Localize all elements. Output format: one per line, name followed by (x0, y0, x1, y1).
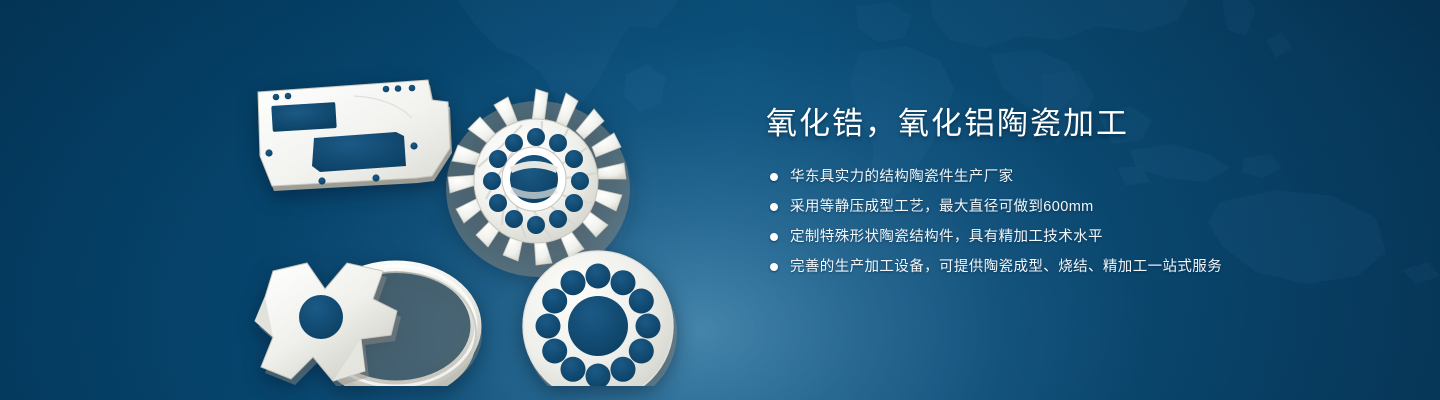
bullet-dot-icon (770, 233, 778, 241)
list-item: 华东具实力的结构陶瓷件生产厂家 (770, 166, 1326, 188)
page-title: 氧化锆，氧化铝陶瓷加工 (766, 104, 1326, 144)
hero-banner: 氧化锆，氧化铝陶瓷加工 华东具实力的结构陶瓷件生产厂家 采用等静压成型工艺，最大… (0, 0, 1440, 400)
bullet-dot-icon (770, 173, 778, 181)
ceramic-mounting-plate (258, 80, 452, 191)
list-item: 采用等静压成型工艺，最大直径可做到600mm (770, 196, 1326, 218)
list-item: 定制特殊形状陶瓷结构件，具有精加工技术水平 (770, 226, 1326, 248)
ceramic-products-image (236, 36, 716, 386)
feature-list: 华东具实力的结构陶瓷件生产厂家 采用等静压成型工艺，最大直径可做到600mm 定… (770, 166, 1326, 278)
ceramic-vaned-impeller (446, 89, 630, 277)
bullet-dot-icon (770, 203, 778, 211)
ceramic-perforated-disc (523, 251, 677, 386)
bullet-dot-icon (770, 263, 778, 271)
feature-text: 定制特殊形状陶瓷结构件，具有精加工技术水平 (790, 226, 1103, 248)
feature-text: 完善的生产加工设备，可提供陶瓷成型、烧结、精加工一站式服务 (790, 256, 1222, 278)
feature-text: 采用等静压成型工艺，最大直径可做到600mm (790, 196, 1094, 218)
banner-copy: 氧化锆，氧化铝陶瓷加工 华东具实力的结构陶瓷件生产厂家 采用等静压成型工艺，最大… (766, 104, 1326, 286)
feature-text: 华东具实力的结构陶瓷件生产厂家 (790, 166, 1014, 188)
list-item: 完善的生产加工设备，可提供陶瓷成型、烧结、精加工一站式服务 (770, 256, 1326, 278)
